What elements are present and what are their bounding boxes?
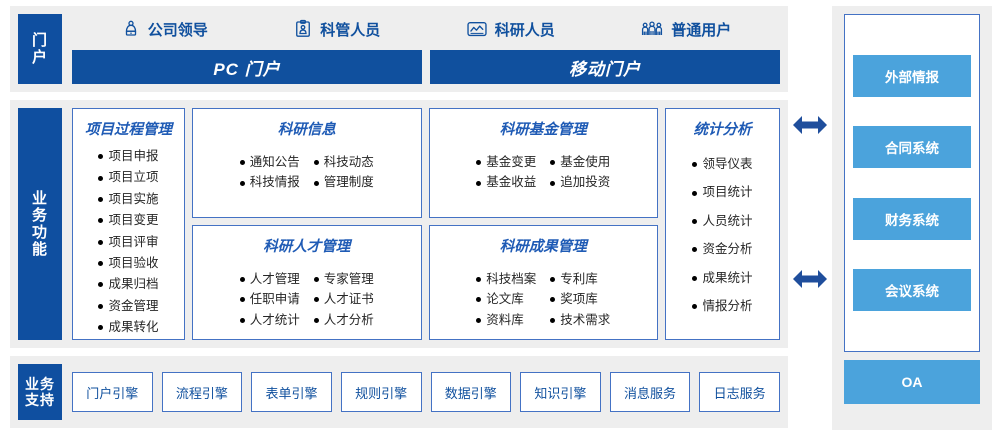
function-side-label-char-1: 业	[32, 190, 48, 207]
card-project-process[interactable]: 项目过程管理 项目申报 项目立项 项目实施 项目变更 项目评审 项目验收 成果归…	[72, 108, 185, 340]
chip-process-engine[interactable]: 流程引擎	[162, 372, 243, 412]
card-research-info[interactable]: 科研信息 通知公告 科技动态 科技情报 管理制度	[192, 108, 422, 218]
role-executive[interactable]: 公司领导	[121, 19, 208, 40]
bidirectional-arrow-icon-top	[793, 114, 827, 136]
list-item[interactable]: 基金使用	[550, 153, 610, 172]
list-item[interactable]: 项目实施	[98, 190, 158, 209]
list-item[interactable]: 成果转化	[98, 318, 158, 337]
business-support-band: 业务 支持 门户引擎 流程引擎 表单引擎 规则引擎 数据引擎 知识引擎 消息服务…	[10, 356, 788, 428]
portal-body: 公司领导 科管人员	[72, 14, 780, 84]
chart-monitor-icon	[466, 19, 488, 39]
list-item[interactable]: 追加投资	[550, 173, 610, 192]
system-finance[interactable]: 财务系统	[853, 198, 971, 240]
function-cards: 项目过程管理 项目申报 项目立项 项目实施 项目变更 项目评审 项目验收 成果归…	[72, 108, 780, 340]
list-item[interactable]: 任职申请	[240, 290, 300, 309]
list-item[interactable]: 成果统计	[692, 269, 752, 288]
list-item[interactable]: 基金收益	[476, 173, 536, 192]
tab-mobile-portal[interactable]: 移动门户	[430, 50, 780, 84]
portal-side-label-char-1: 门	[32, 32, 48, 49]
card-research-talent-title: 科研人才管理	[263, 235, 350, 256]
list-item[interactable]: 人才分析	[314, 311, 374, 330]
card-research-talent-items: 人才管理 专家管理 任职申请 人才证书 人才统计 人才分析	[240, 270, 374, 330]
role-list: 公司领导 科管人员	[72, 14, 780, 44]
role-researcher[interactable]: 科研人员	[466, 19, 555, 40]
card-statistics-title: 统计分析	[694, 118, 752, 139]
list-item[interactable]: 人员统计	[692, 212, 752, 231]
external-systems-box: 外部情报 合同系统 财务系统 会议系统	[844, 14, 980, 352]
list-item[interactable]: 专家管理	[314, 270, 374, 289]
list-item[interactable]: 情报分析	[692, 297, 752, 316]
portal-side-label-char-2: 户	[32, 49, 48, 66]
business-function-side-label: 业 务 功 能	[18, 108, 62, 340]
executive-icon	[121, 19, 141, 39]
card-research-talent[interactable]: 科研人才管理 人才管理 专家管理 任职申请 人才证书 人才统计 人才分析	[192, 225, 422, 340]
card-research-fund-title: 科研基金管理	[500, 118, 587, 139]
role-executive-label: 公司领导	[148, 19, 208, 40]
fund-achievement-stack: 科研基金管理 基金变更 基金使用 基金收益 追加投资 科研成果管理	[429, 108, 659, 340]
chip-knowledge-engine[interactable]: 知识引擎	[520, 372, 601, 412]
integration-arrows	[788, 6, 832, 430]
card-statistics-items: 领导仪表 项目统计 人员统计 资金分析 成果统计 情报分析	[692, 155, 752, 316]
role-general-user[interactable]: 普通用户	[640, 19, 731, 40]
list-item[interactable]: 技术需求	[550, 311, 610, 330]
list-item[interactable]: 人才证书	[314, 290, 374, 309]
chip-portal-engine[interactable]: 门户引擎	[72, 372, 153, 412]
card-research-achievement-items: 科技档案 专利库 论文库 奖项库 资料库 技术需求	[476, 270, 610, 330]
chip-log-service[interactable]: 日志服务	[699, 372, 780, 412]
business-function-band: 业 务 功 能 项目过程管理 项目申报 项目立项 项目实施 项目变更 项目评审	[10, 100, 788, 348]
chip-form-engine[interactable]: 表单引擎	[251, 372, 332, 412]
card-research-info-title: 科研信息	[278, 118, 336, 139]
card-research-achievement[interactable]: 科研成果管理 科技档案 专利库 论文库 奖项库 资料库 技术需求	[429, 225, 659, 340]
chip-message-service[interactable]: 消息服务	[610, 372, 691, 412]
system-oa[interactable]: OA	[844, 360, 980, 404]
list-item[interactable]: 通知公告	[240, 153, 300, 172]
list-item[interactable]: 项目评审	[98, 233, 158, 252]
support-side-label-line-1: 业务	[25, 376, 55, 392]
middle-cards-area: 科研信息 通知公告 科技动态 科技情报 管理制度 科研人才管理	[192, 108, 658, 340]
list-item[interactable]: 奖项库	[550, 290, 610, 309]
role-research-admin[interactable]: 科管人员	[293, 19, 380, 40]
list-item[interactable]: 人才管理	[240, 270, 300, 289]
function-side-label-char-4: 能	[32, 241, 48, 258]
function-side-label-char-2: 务	[32, 207, 48, 224]
list-item[interactable]: 人才统计	[240, 311, 300, 330]
role-researcher-label: 科研人员	[495, 19, 555, 40]
card-project-process-title: 项目过程管理	[85, 118, 172, 139]
list-item[interactable]: 资金分析	[692, 240, 752, 259]
user-group-icon	[640, 19, 664, 39]
business-support-side-label: 业务 支持	[18, 364, 62, 420]
function-side-label-char-3: 功	[32, 224, 48, 241]
chip-data-engine[interactable]: 数据引擎	[431, 372, 512, 412]
list-item[interactable]: 资金管理	[98, 297, 158, 316]
info-talent-stack: 科研信息 通知公告 科技动态 科技情报 管理制度 科研人才管理	[192, 108, 422, 340]
system-contract[interactable]: 合同系统	[853, 126, 971, 168]
list-item[interactable]: 管理制度	[314, 173, 374, 192]
card-research-info-items: 通知公告 科技动态 科技情报 管理制度	[240, 153, 374, 193]
card-statistics[interactable]: 统计分析 领导仪表 项目统计 人员统计 资金分析 成果统计 情报分析	[665, 108, 780, 340]
role-general-user-label: 普通用户	[671, 19, 731, 40]
list-item[interactable]: 专利库	[550, 270, 610, 289]
system-meeting[interactable]: 会议系统	[853, 269, 971, 311]
clipboard-person-icon	[293, 19, 313, 39]
list-item[interactable]: 项目立项	[98, 168, 158, 187]
card-project-process-items: 项目申报 项目立项 项目实施 项目变更 项目评审 项目验收 成果归档 资金管理 …	[98, 147, 158, 337]
main-column: 门 户 公司领导	[10, 6, 788, 430]
chip-rule-engine[interactable]: 规则引擎	[341, 372, 422, 412]
list-item[interactable]: 项目验收	[98, 254, 158, 273]
role-research-admin-label: 科管人员	[320, 19, 380, 40]
list-item[interactable]: 项目申报	[98, 147, 158, 166]
portal-side-label: 门 户	[18, 14, 62, 84]
list-item[interactable]: 项目变更	[98, 211, 158, 230]
support-chip-list: 门户引擎 流程引擎 表单引擎 规则引擎 数据引擎 知识引擎 消息服务 日志服务	[72, 364, 780, 420]
list-item[interactable]: 科技档案	[476, 270, 536, 289]
bidirectional-arrow-icon-bottom	[793, 268, 827, 290]
list-item[interactable]: 科技情报	[240, 173, 300, 192]
list-item[interactable]: 科技动态	[314, 153, 374, 172]
list-item[interactable]: 项目统计	[692, 183, 752, 202]
portal-band: 门 户 公司领导	[10, 6, 788, 92]
support-side-label-line-2: 支持	[25, 392, 55, 408]
list-item[interactable]: 资料库	[476, 311, 536, 330]
card-research-achievement-title: 科研成果管理	[500, 235, 587, 256]
list-item[interactable]: 成果归档	[98, 275, 158, 294]
list-item[interactable]: 领导仪表	[692, 155, 752, 174]
portal-tabs: PC 门户 移动门户	[72, 50, 780, 84]
architecture-diagram: 门 户 公司领导	[0, 0, 1000, 436]
list-item[interactable]: 论文库	[476, 290, 536, 309]
list-item[interactable]: 基金变更	[476, 153, 536, 172]
external-systems-column: 外部情报 合同系统 财务系统 会议系统 OA	[832, 6, 992, 430]
card-research-fund-items: 基金变更 基金使用 基金收益 追加投资	[476, 153, 610, 193]
system-external-intelligence[interactable]: 外部情报	[853, 55, 971, 97]
tab-pc-portal[interactable]: PC 门户	[72, 50, 422, 84]
card-research-fund[interactable]: 科研基金管理 基金变更 基金使用 基金收益 追加投资	[429, 108, 659, 218]
